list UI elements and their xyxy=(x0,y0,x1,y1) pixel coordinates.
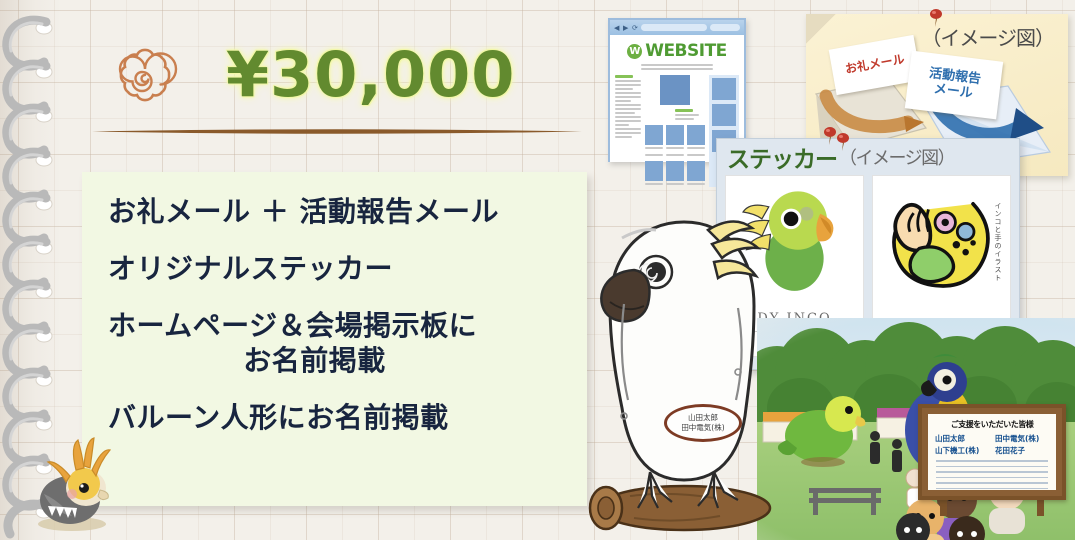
benefit-item-1: お礼メール ＋ 活動報告メール xyxy=(108,194,567,230)
sticker-panel-header: ステッカー （イメージ図） xyxy=(717,139,1019,175)
benefit-item-3: ホームページ＆会場掲示板に お名前掲載 xyxy=(108,308,567,380)
benefit-item-3-line1: ホームページ＆会場掲示板に xyxy=(108,309,477,342)
price-header: ¥30,000 xyxy=(112,38,515,111)
balloon-nametag: 山田太郎 田中電気(株) xyxy=(664,404,742,442)
website-subtitle-lines xyxy=(641,64,713,70)
board-name-4: 花田花子 xyxy=(995,445,1049,456)
board-name-1: 山田太郎 xyxy=(935,433,989,444)
website-title-row: W WEBSITE xyxy=(615,41,739,61)
board-frame: ご支援をいただいた皆様 山田太郎 田中電気(株) 山下機工(株) 花田花子 xyxy=(918,404,1066,500)
price-amount: ¥30,000 xyxy=(226,38,515,111)
supporter-name-board: ご支援をいただいた皆様 山田太郎 田中電気(株) 山下機工(株) 花田花子 xyxy=(918,404,1066,516)
push-pin-icon xyxy=(835,132,851,152)
back-icon: ◀ xyxy=(614,25,620,31)
nametag-line-2: 田中電気(株) xyxy=(681,423,724,434)
benefits-card: お礼メール ＋ 活動報告メール オリジナルステッカー ホームページ＆会場掲示板に… xyxy=(82,172,587,506)
board-title: ご支援をいただいた皆様 xyxy=(928,414,1056,430)
board-names: 山田太郎 田中電気(株) 山下機工(株) 花田花子 xyxy=(928,430,1056,456)
nametag-line-1: 山田太郎 xyxy=(688,413,718,424)
activity-report-mail-card: 活動報告メール xyxy=(905,51,1003,120)
push-pin-icon xyxy=(928,8,944,28)
address-bar xyxy=(641,24,707,31)
cockatoo-body xyxy=(601,221,758,508)
benefit-item-3-line2: お名前掲載 xyxy=(108,343,567,379)
cockatiel-character xyxy=(22,432,118,532)
sticker-panel-title: ステッカー xyxy=(727,140,837,174)
search-bar xyxy=(710,24,740,31)
cockatoo-balloon-figure xyxy=(578,186,790,540)
reward-tier-graphic: ¥30,000 お礼メール ＋ 活動報告メール オリジナルステッカー ホームペー… xyxy=(0,0,1075,540)
website-title: WEBSITE xyxy=(645,41,727,61)
benefit-item-2: オリジナルステッカー xyxy=(108,251,567,287)
sticker-vertical-text: インコと手のイラスト xyxy=(993,202,1003,282)
sticker-image-note: （イメージ図） xyxy=(839,144,954,170)
reload-icon: ⟳ xyxy=(632,25,638,31)
log-perch xyxy=(590,486,770,530)
browser-chrome: ◀ ▶ ⟳ xyxy=(610,20,744,35)
rose-flower-icon xyxy=(112,42,178,108)
cockatiel-body xyxy=(40,438,110,524)
budgie-hand-illustration xyxy=(894,204,988,286)
website-logo-icon: W xyxy=(627,44,642,59)
forward-icon: ▶ xyxy=(623,25,629,31)
board-name-2: 田中電気(株) xyxy=(995,433,1049,444)
board-blank-lines xyxy=(928,456,1056,489)
benefit-item-4: バルーン人形にお名前掲載 xyxy=(108,400,567,436)
board-face: ご支援をいただいた皆様 山田太郎 田中電気(株) 山下機工(株) 花田花子 xyxy=(928,414,1056,490)
website-main-column xyxy=(645,75,705,187)
section-divider xyxy=(92,127,582,136)
website-left-column xyxy=(615,75,641,187)
board-name-3: 山下機工(株) xyxy=(935,445,989,456)
